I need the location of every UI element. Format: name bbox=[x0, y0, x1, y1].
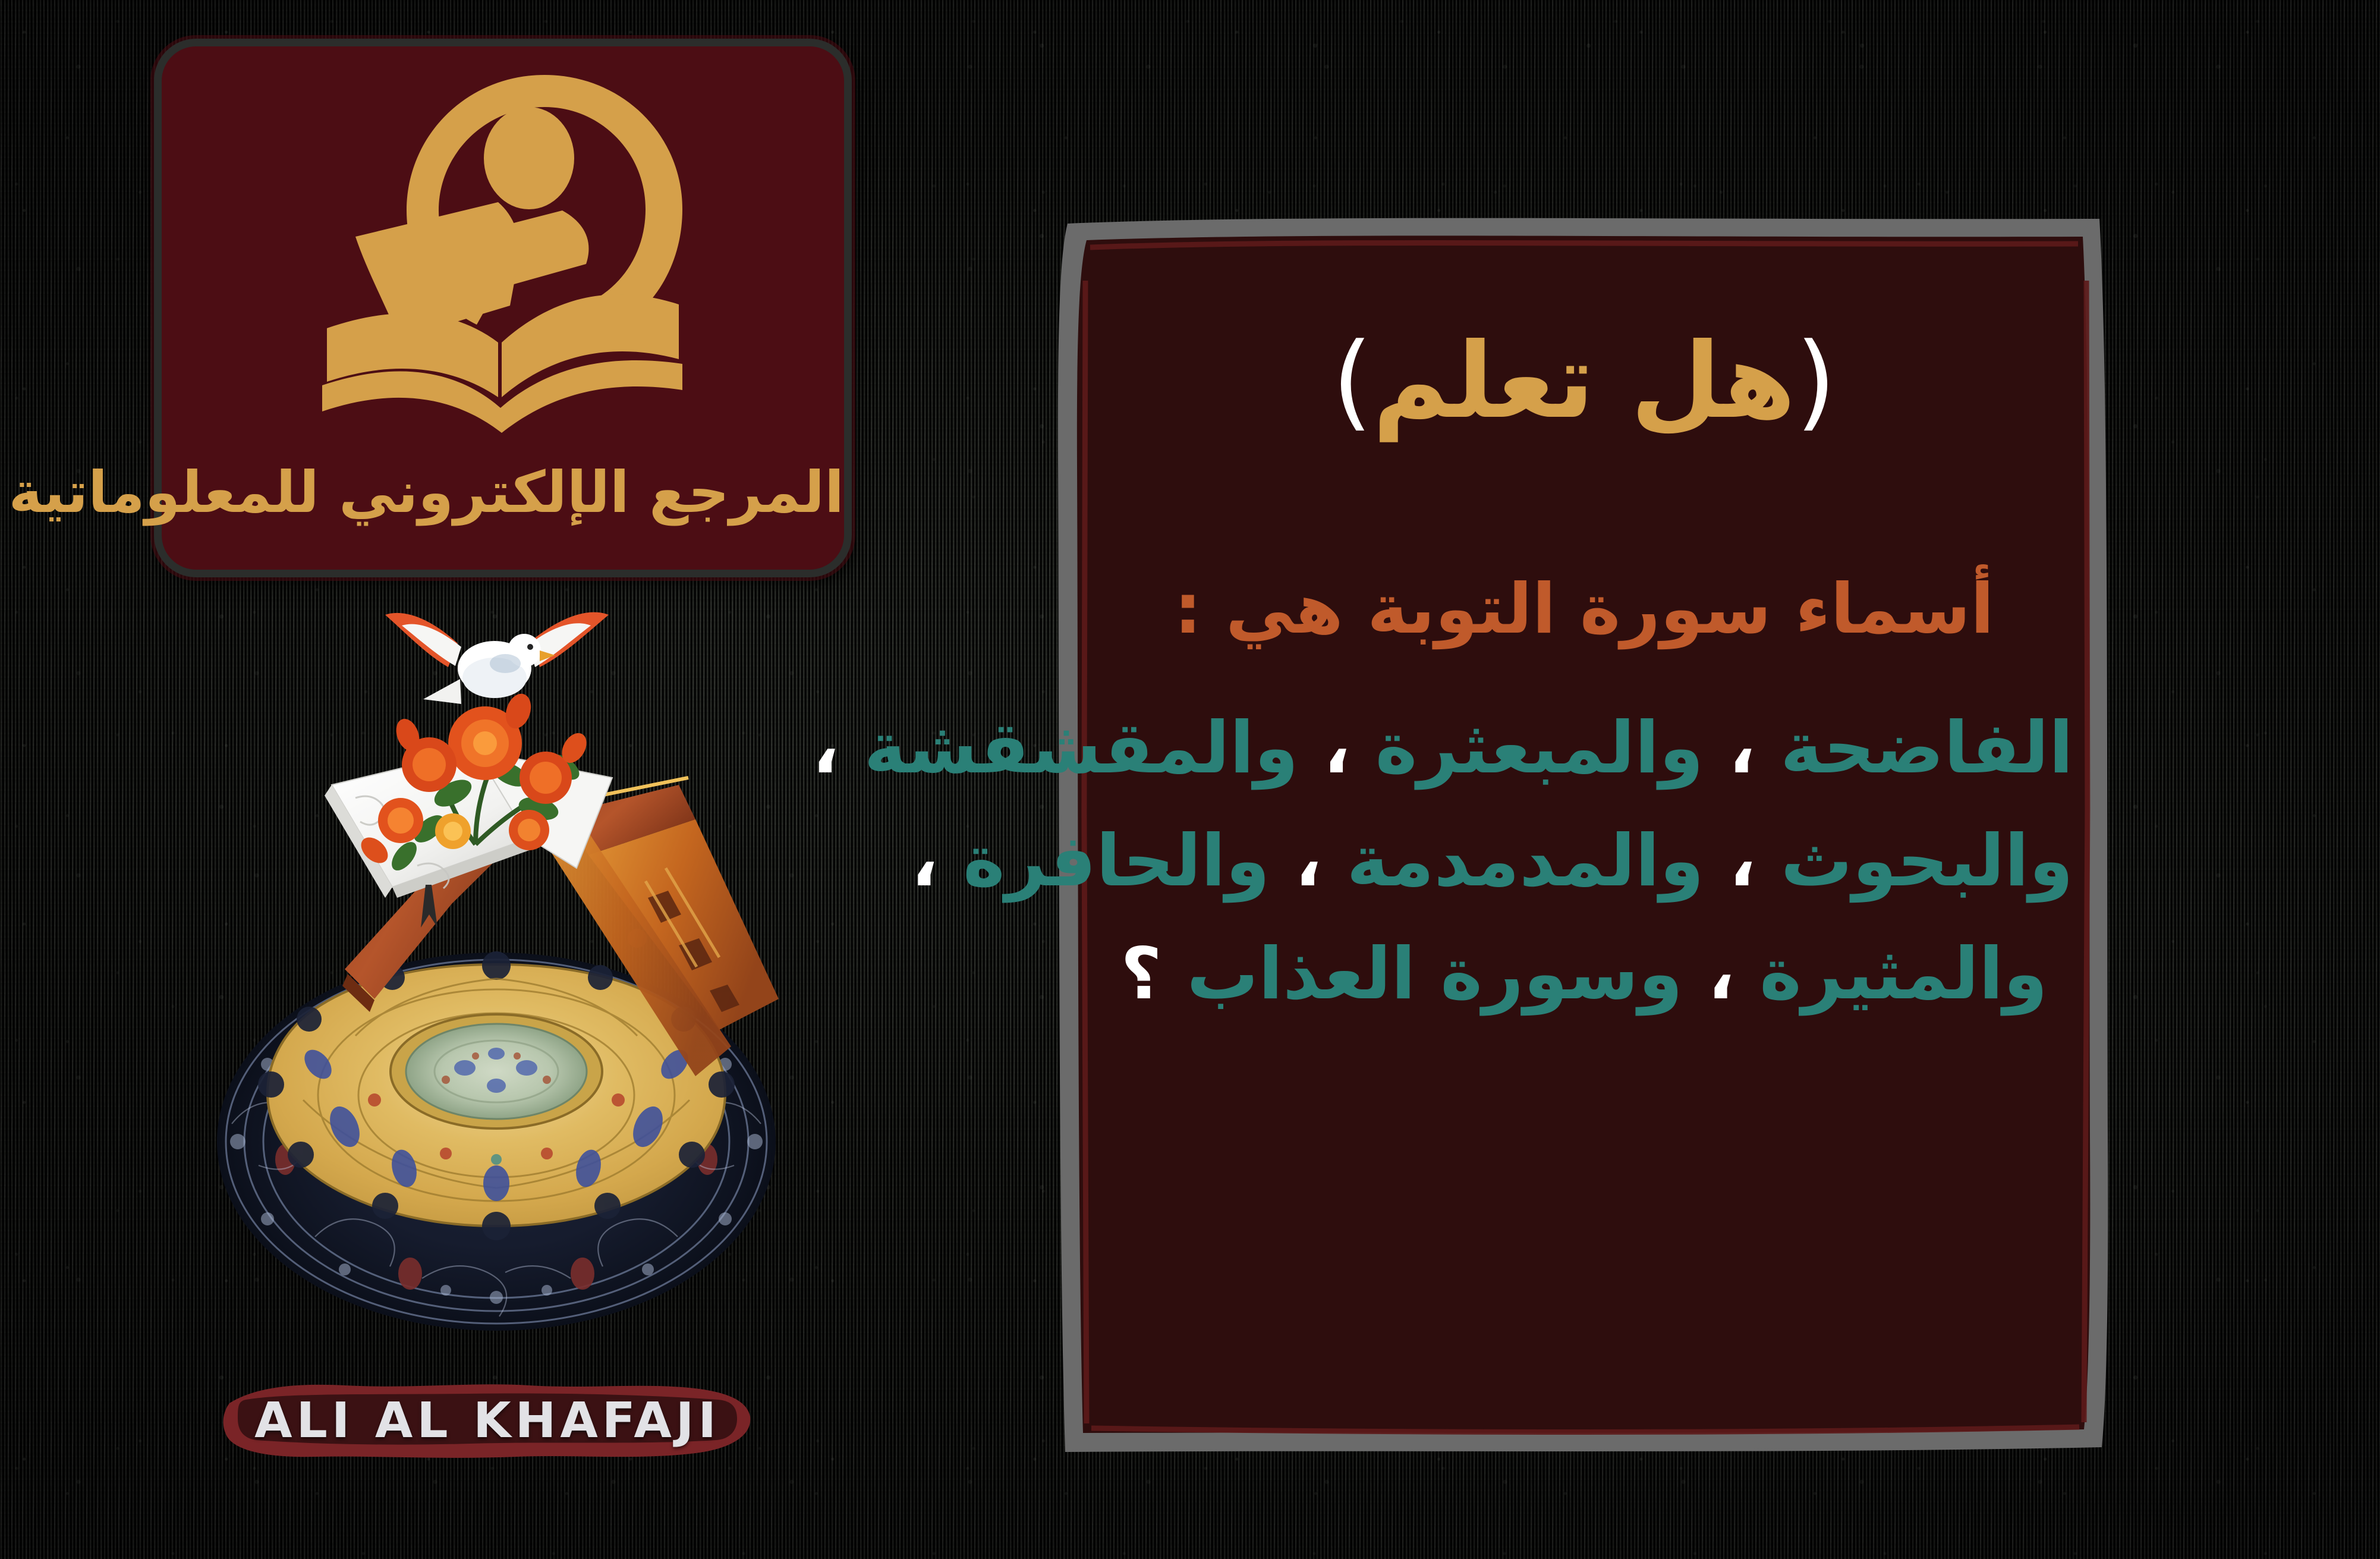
separator: ، bbox=[1323, 707, 1350, 790]
title-close-paren: ) bbox=[1332, 321, 1372, 442]
panel-subtitle: أسماء سورة التوبة هي : bbox=[1095, 575, 2073, 644]
poster-canvas: المرجع الإلكتروني للمعلوماتية bbox=[0, 0, 2380, 1559]
signature-banner[interactable]: ALI AL KHAFAJI bbox=[220, 1379, 755, 1461]
term: والمقشقشة bbox=[864, 707, 1298, 790]
panel-line-2: والبحوث ، والمدمدمة ، والحافرة ، bbox=[1095, 826, 2073, 897]
question-mark: ؟ bbox=[1120, 933, 1162, 1016]
panel-line-1: الفاضحة ، والمبعثرة ، والمقشقشة ، bbox=[1095, 713, 2073, 784]
carpet-medallion bbox=[391, 1014, 602, 1129]
term: والمدمدمة bbox=[1347, 820, 1704, 903]
separator: ، bbox=[812, 707, 839, 790]
separator: ، bbox=[1729, 820, 1756, 903]
panel-lines-group: الفاضحة ، والمبعثرة ، والمقشقشة ، والبحو… bbox=[1095, 713, 2073, 1010]
panel-title: (هل تعلم) bbox=[1095, 329, 2073, 433]
separator: ، bbox=[1708, 933, 1735, 1016]
title-text: هل تعلم bbox=[1372, 321, 1796, 442]
term: وسورة العذاب bbox=[1187, 933, 1683, 1016]
separator: ، bbox=[1729, 707, 1756, 790]
logo-caption: المرجع الإلكتروني للمعلوماتية bbox=[162, 459, 844, 526]
title-open-paren: ( bbox=[1796, 321, 1836, 442]
white-dove bbox=[385, 612, 609, 704]
separator: ، bbox=[911, 820, 939, 903]
quran-on-rehal-artwork bbox=[196, 589, 797, 1338]
term: والحافرة bbox=[963, 820, 1270, 903]
separator: ، bbox=[1295, 820, 1322, 903]
logo-card[interactable]: المرجع الإلكتروني للمعلوماتية bbox=[162, 46, 844, 570]
open-book-with-figure-logo bbox=[289, 64, 717, 445]
term: الفاضحة bbox=[1780, 707, 2073, 790]
content-panel: (هل تعلم) أسماء سورة التوبة هي : الفاضحة… bbox=[1052, 209, 2116, 1464]
term: والبحوث bbox=[1781, 820, 2073, 903]
term: والمبعثرة bbox=[1375, 707, 1704, 790]
panel-text-body: (هل تعلم) أسماء سورة التوبة هي : الفاضحة… bbox=[1075, 231, 2093, 1440]
panel-line-3: والمثيرة ، وسورة العذاب ؟ bbox=[1095, 939, 2073, 1010]
term: والمثيرة bbox=[1759, 933, 2048, 1016]
signature-text: ALI AL KHAFAJI bbox=[220, 1379, 755, 1461]
